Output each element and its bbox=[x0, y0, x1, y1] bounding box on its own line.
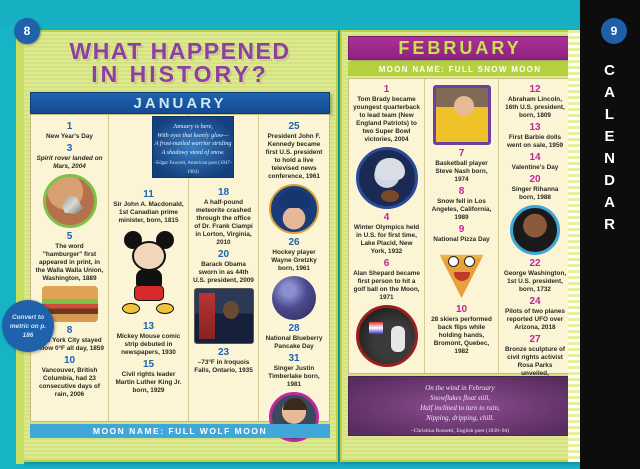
page-title: WHAT HAPPENED IN HISTORY? bbox=[22, 40, 338, 86]
event-text: 28 skiers performed back flips while hol… bbox=[428, 316, 495, 356]
day-number: 23 bbox=[192, 347, 255, 359]
february-column-1: 1 Tom Brady became youngest quarterback … bbox=[349, 79, 425, 373]
calendar-letter: C bbox=[590, 60, 630, 82]
calendar-letter: L bbox=[590, 104, 630, 126]
day-number: 4 bbox=[352, 212, 421, 224]
event-text: George Washington, 1st U.S. president, b… bbox=[502, 270, 568, 294]
day-number: 24 bbox=[502, 296, 568, 308]
event-text: National Blueberry Pancake Day bbox=[262, 335, 326, 351]
day-number: 13 bbox=[112, 321, 185, 333]
day-number: 10 bbox=[428, 304, 495, 316]
day-number: 1 bbox=[34, 121, 105, 133]
quote-line: January is here, bbox=[153, 123, 233, 132]
february-header: FEBRUARY bbox=[348, 36, 572, 60]
day-number: 18 bbox=[192, 187, 255, 199]
calendar-letter: D bbox=[590, 170, 630, 192]
january-quote: January is here, With eyes that keenly g… bbox=[152, 116, 234, 178]
day-number: 20 bbox=[192, 249, 255, 261]
day-number: 26 bbox=[262, 237, 326, 249]
event-text: Valentine's Day bbox=[502, 164, 568, 172]
day-number: 11 bbox=[112, 189, 185, 201]
event-text: Spirit rover landed on Mars, 2004 bbox=[34, 155, 105, 171]
february-column-2: 7 Basketball player Steve Nash born, 197… bbox=[425, 79, 499, 373]
event-text: The word "hamburger" first appeared in p… bbox=[34, 243, 105, 283]
event-text: Abraham Lincoln, 16th U.S. president, bo… bbox=[502, 96, 568, 120]
page-title-line2: IN HISTORY? bbox=[22, 63, 338, 86]
quote-attribution: –Christina Rossetti, English poet (1830–… bbox=[349, 426, 571, 436]
event-text: Tom Brady became youngest quarterback to… bbox=[352, 96, 421, 144]
quote-line: A shadowy steed of snow. bbox=[153, 149, 233, 158]
day-number: 13 bbox=[502, 122, 568, 134]
page-edge-stripe bbox=[568, 30, 580, 462]
event-text: Basketball player Steve Nash born, 1974 bbox=[428, 160, 495, 184]
quote-line: On the wind in February bbox=[349, 383, 571, 393]
quote-line: Nipping, dripping, chill. bbox=[349, 413, 571, 423]
event-text: Alan Shepard became first person to hit … bbox=[352, 270, 421, 302]
moon-golf-photo bbox=[356, 305, 418, 367]
calendar-letter: E bbox=[590, 126, 630, 148]
day-number: 15 bbox=[112, 359, 185, 371]
event-text: –73°F in Iroquois Falls, Ontario, 1935 bbox=[192, 359, 255, 375]
page-number-right: 9 bbox=[601, 18, 627, 44]
february-column-3: 12 Abraham Lincoln, 16th U.S. president,… bbox=[499, 79, 571, 373]
quote-attribution: –Edgar Fawcett, American poet (1847–1904… bbox=[153, 160, 233, 177]
day-number: 5 bbox=[34, 231, 105, 243]
calendar-letter: R bbox=[590, 214, 630, 236]
page-title-line1: WHAT HAPPENED bbox=[22, 40, 338, 63]
mickey-mouse-photo bbox=[118, 227, 180, 319]
february-quote: On the wind in February Snowflakes float… bbox=[348, 376, 572, 436]
event-text: Barack Obama sworn in as 44th U.S. presi… bbox=[192, 261, 255, 285]
january-header: JANUARY bbox=[30, 92, 330, 114]
quote-line: With eyes that keenly glow— bbox=[153, 132, 233, 141]
day-number: 20 bbox=[502, 174, 568, 186]
day-number: 22 bbox=[502, 258, 568, 270]
event-text: Mickey Mouse comic strip debuted in news… bbox=[112, 333, 185, 357]
wayne-gretzky-photo bbox=[269, 184, 319, 234]
event-text: A half-pound meteorite crashed through t… bbox=[192, 199, 255, 247]
january-column-4: 25 President John F. Kennedy became firs… bbox=[259, 115, 329, 421]
event-text: Winter Olympics held in U.S. for first t… bbox=[352, 224, 421, 256]
day-number: 25 bbox=[262, 121, 326, 133]
day-number: 10 bbox=[34, 355, 105, 367]
spread-page: 8 WHAT HAPPENED IN HISTORY? JANUARY 1 Ne… bbox=[0, 0, 640, 469]
event-text: New Year's Day bbox=[34, 133, 105, 141]
day-number: 7 bbox=[428, 148, 495, 160]
event-text: Sir John A. Macdonald, 1st Canadian prim… bbox=[112, 201, 185, 225]
blueberry-photo bbox=[272, 276, 316, 320]
calendar-letter: A bbox=[590, 192, 630, 214]
day-number: 6 bbox=[352, 258, 421, 270]
obama-photo bbox=[194, 288, 254, 344]
tom-brady-photo bbox=[356, 147, 418, 209]
rihanna-photo bbox=[510, 205, 560, 255]
day-number: 9 bbox=[428, 224, 495, 236]
event-text: First Barbie dolls went on sale, 1959 bbox=[502, 134, 568, 150]
event-text: Snow fell in Los Angeles, California, 19… bbox=[428, 198, 495, 222]
pizza-photo bbox=[434, 246, 490, 302]
event-text: Pilots of two planes reported UFO over A… bbox=[502, 308, 568, 332]
steve-nash-photo bbox=[433, 85, 491, 145]
event-text: Singer Rihanna born, 1988 bbox=[502, 186, 568, 202]
day-number: 8 bbox=[428, 186, 495, 198]
february-moon-name: MOON NAME: FULL SNOW MOON bbox=[348, 62, 572, 76]
day-number: 3 bbox=[34, 143, 105, 155]
event-text: President John F. Kennedy became first U… bbox=[262, 133, 326, 181]
day-number: 1 bbox=[352, 84, 421, 96]
quote-line: Snowflakes float still, bbox=[349, 393, 571, 403]
event-text: Singer Justin Timberlake born, 1981 bbox=[262, 365, 326, 389]
february-entries: 1 Tom Brady became youngest quarterback … bbox=[348, 78, 572, 374]
day-number: 14 bbox=[502, 152, 568, 164]
day-number: 12 bbox=[502, 84, 568, 96]
convert-to-metric-badge[interactable]: Convert to metric on p. 186 bbox=[2, 300, 54, 352]
event-text: Civil rights leader Martin Luther King J… bbox=[112, 371, 185, 395]
calendar-letter: A bbox=[590, 82, 630, 104]
event-text: Vancouver, British Columbia, had 23 cons… bbox=[34, 367, 105, 399]
day-number: 31 bbox=[262, 353, 326, 365]
day-number: 27 bbox=[502, 334, 568, 346]
quote-line: Half inclined to turn to rain, bbox=[349, 403, 571, 413]
calendar-tab-label: CALENDAR bbox=[590, 60, 630, 236]
day-number: 28 bbox=[262, 323, 326, 335]
mars-rover-photo bbox=[43, 174, 97, 228]
january-column-1: 1 New Year's Day 3 Spirit rover landed o… bbox=[31, 115, 109, 421]
event-text: National Pizza Day bbox=[428, 236, 495, 244]
event-text: Hockey player Wayne Gretzky born, 1961 bbox=[262, 249, 326, 273]
quote-line: A frost-mailed warrior striding bbox=[153, 140, 233, 149]
january-moon-name: MOON NAME: FULL WOLF MOON bbox=[30, 424, 330, 438]
calendar-letter: N bbox=[590, 148, 630, 170]
